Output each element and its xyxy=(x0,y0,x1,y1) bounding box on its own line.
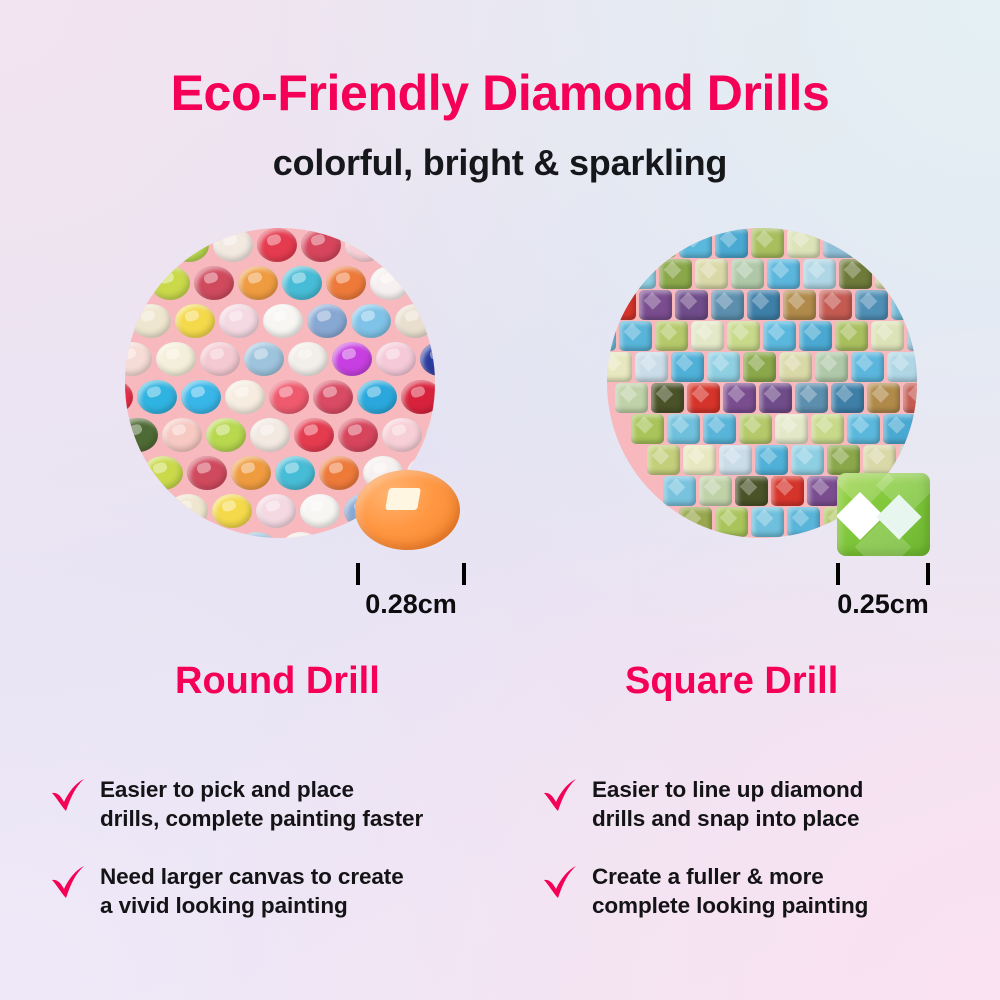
round-drill-heading: Round Drill xyxy=(175,660,380,703)
drill-bead xyxy=(739,414,772,444)
drill-bead xyxy=(143,456,183,490)
measure-cap-left xyxy=(836,563,840,585)
square-benefit-1-text: Easier to line up diamond drills and sna… xyxy=(592,775,863,834)
drill-bead xyxy=(699,476,732,506)
drill-bead xyxy=(319,456,359,490)
drill-bead xyxy=(125,266,146,300)
drill-bead xyxy=(835,321,868,351)
drill-bead xyxy=(715,228,748,258)
drill-bead xyxy=(635,352,668,382)
drill-bead xyxy=(281,532,321,538)
round-size-label: 0.28cm xyxy=(365,589,457,620)
measure-cap-right xyxy=(462,563,466,585)
page-subtitle: colorful, bright & sparkling xyxy=(0,142,1000,184)
drill-bead xyxy=(607,259,620,289)
facet-highlight xyxy=(385,488,420,510)
drill-bead xyxy=(370,266,410,300)
drill-bead xyxy=(257,228,297,262)
check-icon xyxy=(540,864,580,904)
drill-bead xyxy=(759,383,792,413)
drill-bead xyxy=(691,321,724,351)
drill-bead xyxy=(426,418,435,452)
drill-bead xyxy=(200,342,240,376)
drill-bead xyxy=(779,352,812,382)
drill-bead xyxy=(703,414,736,444)
drill-bead xyxy=(607,290,636,320)
drill-bead xyxy=(301,228,341,262)
drill-bead xyxy=(181,380,221,414)
drill-bead xyxy=(169,228,209,262)
drill-bead xyxy=(771,476,804,506)
drill-bead xyxy=(219,304,259,338)
drill-bead xyxy=(615,383,648,413)
drill-bead xyxy=(212,494,252,528)
drill-bead xyxy=(433,228,435,262)
drill-bead xyxy=(420,342,435,376)
drill-bead xyxy=(187,456,227,490)
drill-bead xyxy=(389,228,429,262)
drill-bead xyxy=(831,383,864,413)
drill-bead xyxy=(307,304,347,338)
drill-bead xyxy=(715,507,748,537)
drill-bead xyxy=(663,476,696,506)
drill-bead xyxy=(767,259,800,289)
drill-bead xyxy=(795,383,828,413)
drill-bead xyxy=(250,418,290,452)
drill-bead xyxy=(687,383,720,413)
drill-bead xyxy=(162,418,202,452)
drill-bead xyxy=(125,456,139,490)
drill-bead xyxy=(671,352,704,382)
drill-bead xyxy=(799,321,832,351)
drill-bead xyxy=(675,290,708,320)
drill-bead xyxy=(695,259,728,289)
drill-bead xyxy=(294,418,334,452)
drill-bead xyxy=(149,532,189,538)
measure-cap-right xyxy=(926,563,930,585)
drill-bead xyxy=(679,507,712,537)
drill-bead xyxy=(156,342,196,376)
drill-bead xyxy=(895,228,917,258)
drill-bead xyxy=(659,259,692,289)
drill-bead xyxy=(357,380,397,414)
drill-bead xyxy=(325,532,365,538)
square-size-label: 0.25cm xyxy=(837,589,929,620)
drill-bead xyxy=(631,414,664,444)
drill-bead xyxy=(607,352,632,382)
drill-bead xyxy=(213,228,253,262)
drill-bead xyxy=(811,414,844,444)
drill-bead xyxy=(899,445,917,475)
drill-bead xyxy=(206,418,246,452)
drill-bead xyxy=(807,476,840,506)
drill-bead xyxy=(875,259,908,289)
drill-bead xyxy=(911,259,917,289)
square-benefit-2: Create a fuller & more complete looking … xyxy=(540,862,868,921)
drill-bead xyxy=(345,228,385,262)
square-benefit-2-text: Create a fuller & more complete looking … xyxy=(592,862,868,921)
drill-bead xyxy=(125,304,127,338)
drill-bead xyxy=(755,445,788,475)
drill-bead xyxy=(137,380,177,414)
drill-bead xyxy=(338,418,378,452)
drill-bead xyxy=(382,418,422,452)
drill-bead xyxy=(751,228,784,258)
drill-bead xyxy=(723,383,756,413)
drill-bead xyxy=(787,507,820,537)
check-icon xyxy=(48,864,88,904)
drill-bead xyxy=(275,456,315,490)
drill-bead xyxy=(863,445,896,475)
drill-bead xyxy=(125,228,165,262)
round-benefit-1: Easier to pick and place drills, complet… xyxy=(48,775,423,834)
drill-bead xyxy=(300,494,340,528)
drill-bead xyxy=(231,456,271,490)
drill-bead xyxy=(751,507,784,537)
drill-bead xyxy=(237,532,277,538)
round-drill-sample xyxy=(355,470,460,550)
drill-bead xyxy=(907,321,917,351)
drill-bead xyxy=(711,290,744,320)
drill-bead xyxy=(735,476,768,506)
drill-bead xyxy=(815,352,848,382)
square-drill-heading: Square Drill xyxy=(625,660,838,703)
drill-bead xyxy=(607,228,640,258)
drill-bead xyxy=(667,414,700,444)
drill-bead xyxy=(225,380,265,414)
drill-bead xyxy=(867,383,900,413)
drill-bead xyxy=(125,418,158,452)
drill-bead xyxy=(125,494,164,528)
drill-bead xyxy=(787,228,820,258)
drill-bead xyxy=(883,414,916,444)
measure-cap-left xyxy=(356,563,360,585)
drill-bead xyxy=(743,352,776,382)
drill-bead xyxy=(193,532,233,538)
drill-bead xyxy=(891,290,917,320)
drill-bead xyxy=(125,532,145,538)
drill-bead xyxy=(803,259,836,289)
drill-bead xyxy=(903,383,917,413)
drill-bead xyxy=(839,259,872,289)
drill-bead xyxy=(326,266,366,300)
drill-bead xyxy=(175,304,215,338)
drill-bead xyxy=(332,342,372,376)
drill-bead xyxy=(125,380,133,414)
drill-bead xyxy=(707,352,740,382)
page-title: Eco-Friendly Diamond Drills xyxy=(0,64,1000,122)
drill-bead xyxy=(288,342,328,376)
drill-bead xyxy=(623,259,656,289)
drill-bead xyxy=(643,228,676,258)
round-benefit-2: Need larger canvas to create a vivid loo… xyxy=(48,862,404,921)
round-benefit-1-text: Easier to pick and place drills, complet… xyxy=(100,775,423,834)
drill-bead xyxy=(783,290,816,320)
drill-bead xyxy=(679,228,712,258)
drill-bead xyxy=(855,290,888,320)
drill-bead xyxy=(619,321,652,351)
drill-bead xyxy=(639,290,672,320)
drill-bead xyxy=(607,321,616,351)
infographic-page: Eco-Friendly Diamond Drills colorful, br… xyxy=(0,0,1000,1000)
drill-bead xyxy=(851,352,884,382)
square-benefit-1: Easier to line up diamond drills and sna… xyxy=(540,775,863,834)
drill-bead xyxy=(791,445,824,475)
drill-bead xyxy=(282,266,322,300)
drill-bead xyxy=(683,445,716,475)
drill-bead xyxy=(871,321,904,351)
check-icon xyxy=(48,777,88,817)
drill-bead xyxy=(827,445,860,475)
drill-bead xyxy=(168,494,208,528)
drill-bead xyxy=(414,266,435,300)
drill-bead xyxy=(647,445,680,475)
drill-bead xyxy=(747,290,780,320)
drill-bead xyxy=(238,266,278,300)
drill-bead xyxy=(351,304,391,338)
drill-bead xyxy=(194,266,234,300)
drill-bead xyxy=(313,380,353,414)
drill-bead xyxy=(719,445,752,475)
drill-bead xyxy=(395,304,435,338)
drill-bead xyxy=(859,228,892,258)
drill-bead xyxy=(823,228,856,258)
drill-bead xyxy=(727,321,760,351)
drill-bead xyxy=(819,290,852,320)
drill-bead xyxy=(125,342,152,376)
drill-bead xyxy=(731,259,764,289)
square-drill-sample xyxy=(837,473,930,556)
drill-bead xyxy=(401,380,435,414)
drill-bead xyxy=(775,414,808,444)
drill-bead xyxy=(131,304,171,338)
check-icon xyxy=(540,777,580,817)
round-benefit-2-text: Need larger canvas to create a vivid loo… xyxy=(100,862,404,921)
drill-bead xyxy=(256,494,296,528)
drill-bead xyxy=(651,383,684,413)
drill-bead xyxy=(847,414,880,444)
drill-bead xyxy=(244,342,284,376)
drill-bead xyxy=(887,352,917,382)
drill-bead xyxy=(376,342,416,376)
drill-bead xyxy=(655,321,688,351)
drill-bead xyxy=(150,266,190,300)
drill-bead xyxy=(263,304,303,338)
drill-bead xyxy=(269,380,309,414)
drill-bead xyxy=(763,321,796,351)
